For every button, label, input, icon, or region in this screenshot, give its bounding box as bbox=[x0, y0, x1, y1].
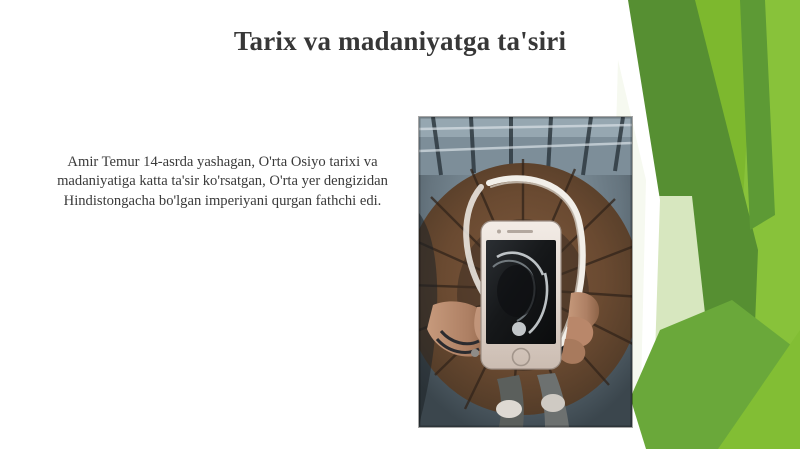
decor-shape-pale-wedge bbox=[628, 196, 720, 449]
photo-illustration bbox=[419, 117, 632, 427]
decor-shape-mid-green-lower bbox=[608, 300, 800, 449]
spiral-staircase-phone-photo bbox=[419, 117, 632, 427]
photo-content bbox=[419, 117, 632, 427]
page-title: Tarix va madaniyatga ta'siri bbox=[150, 26, 650, 57]
decor-shape-dark-green-band bbox=[610, 0, 758, 449]
body-paragraph: Amir Temur 14-asrda yashagan, O'rta Osiy… bbox=[50, 153, 395, 211]
photo-smartphone bbox=[481, 221, 561, 369]
slide-canvas: Tarix va madaniyatga ta'siri Amir Temur … bbox=[0, 0, 800, 449]
decor-shape-light-green bbox=[728, 0, 800, 449]
decor-shape-dark-sliver bbox=[740, 0, 775, 230]
decor-shape-bright-bottom bbox=[718, 330, 800, 449]
